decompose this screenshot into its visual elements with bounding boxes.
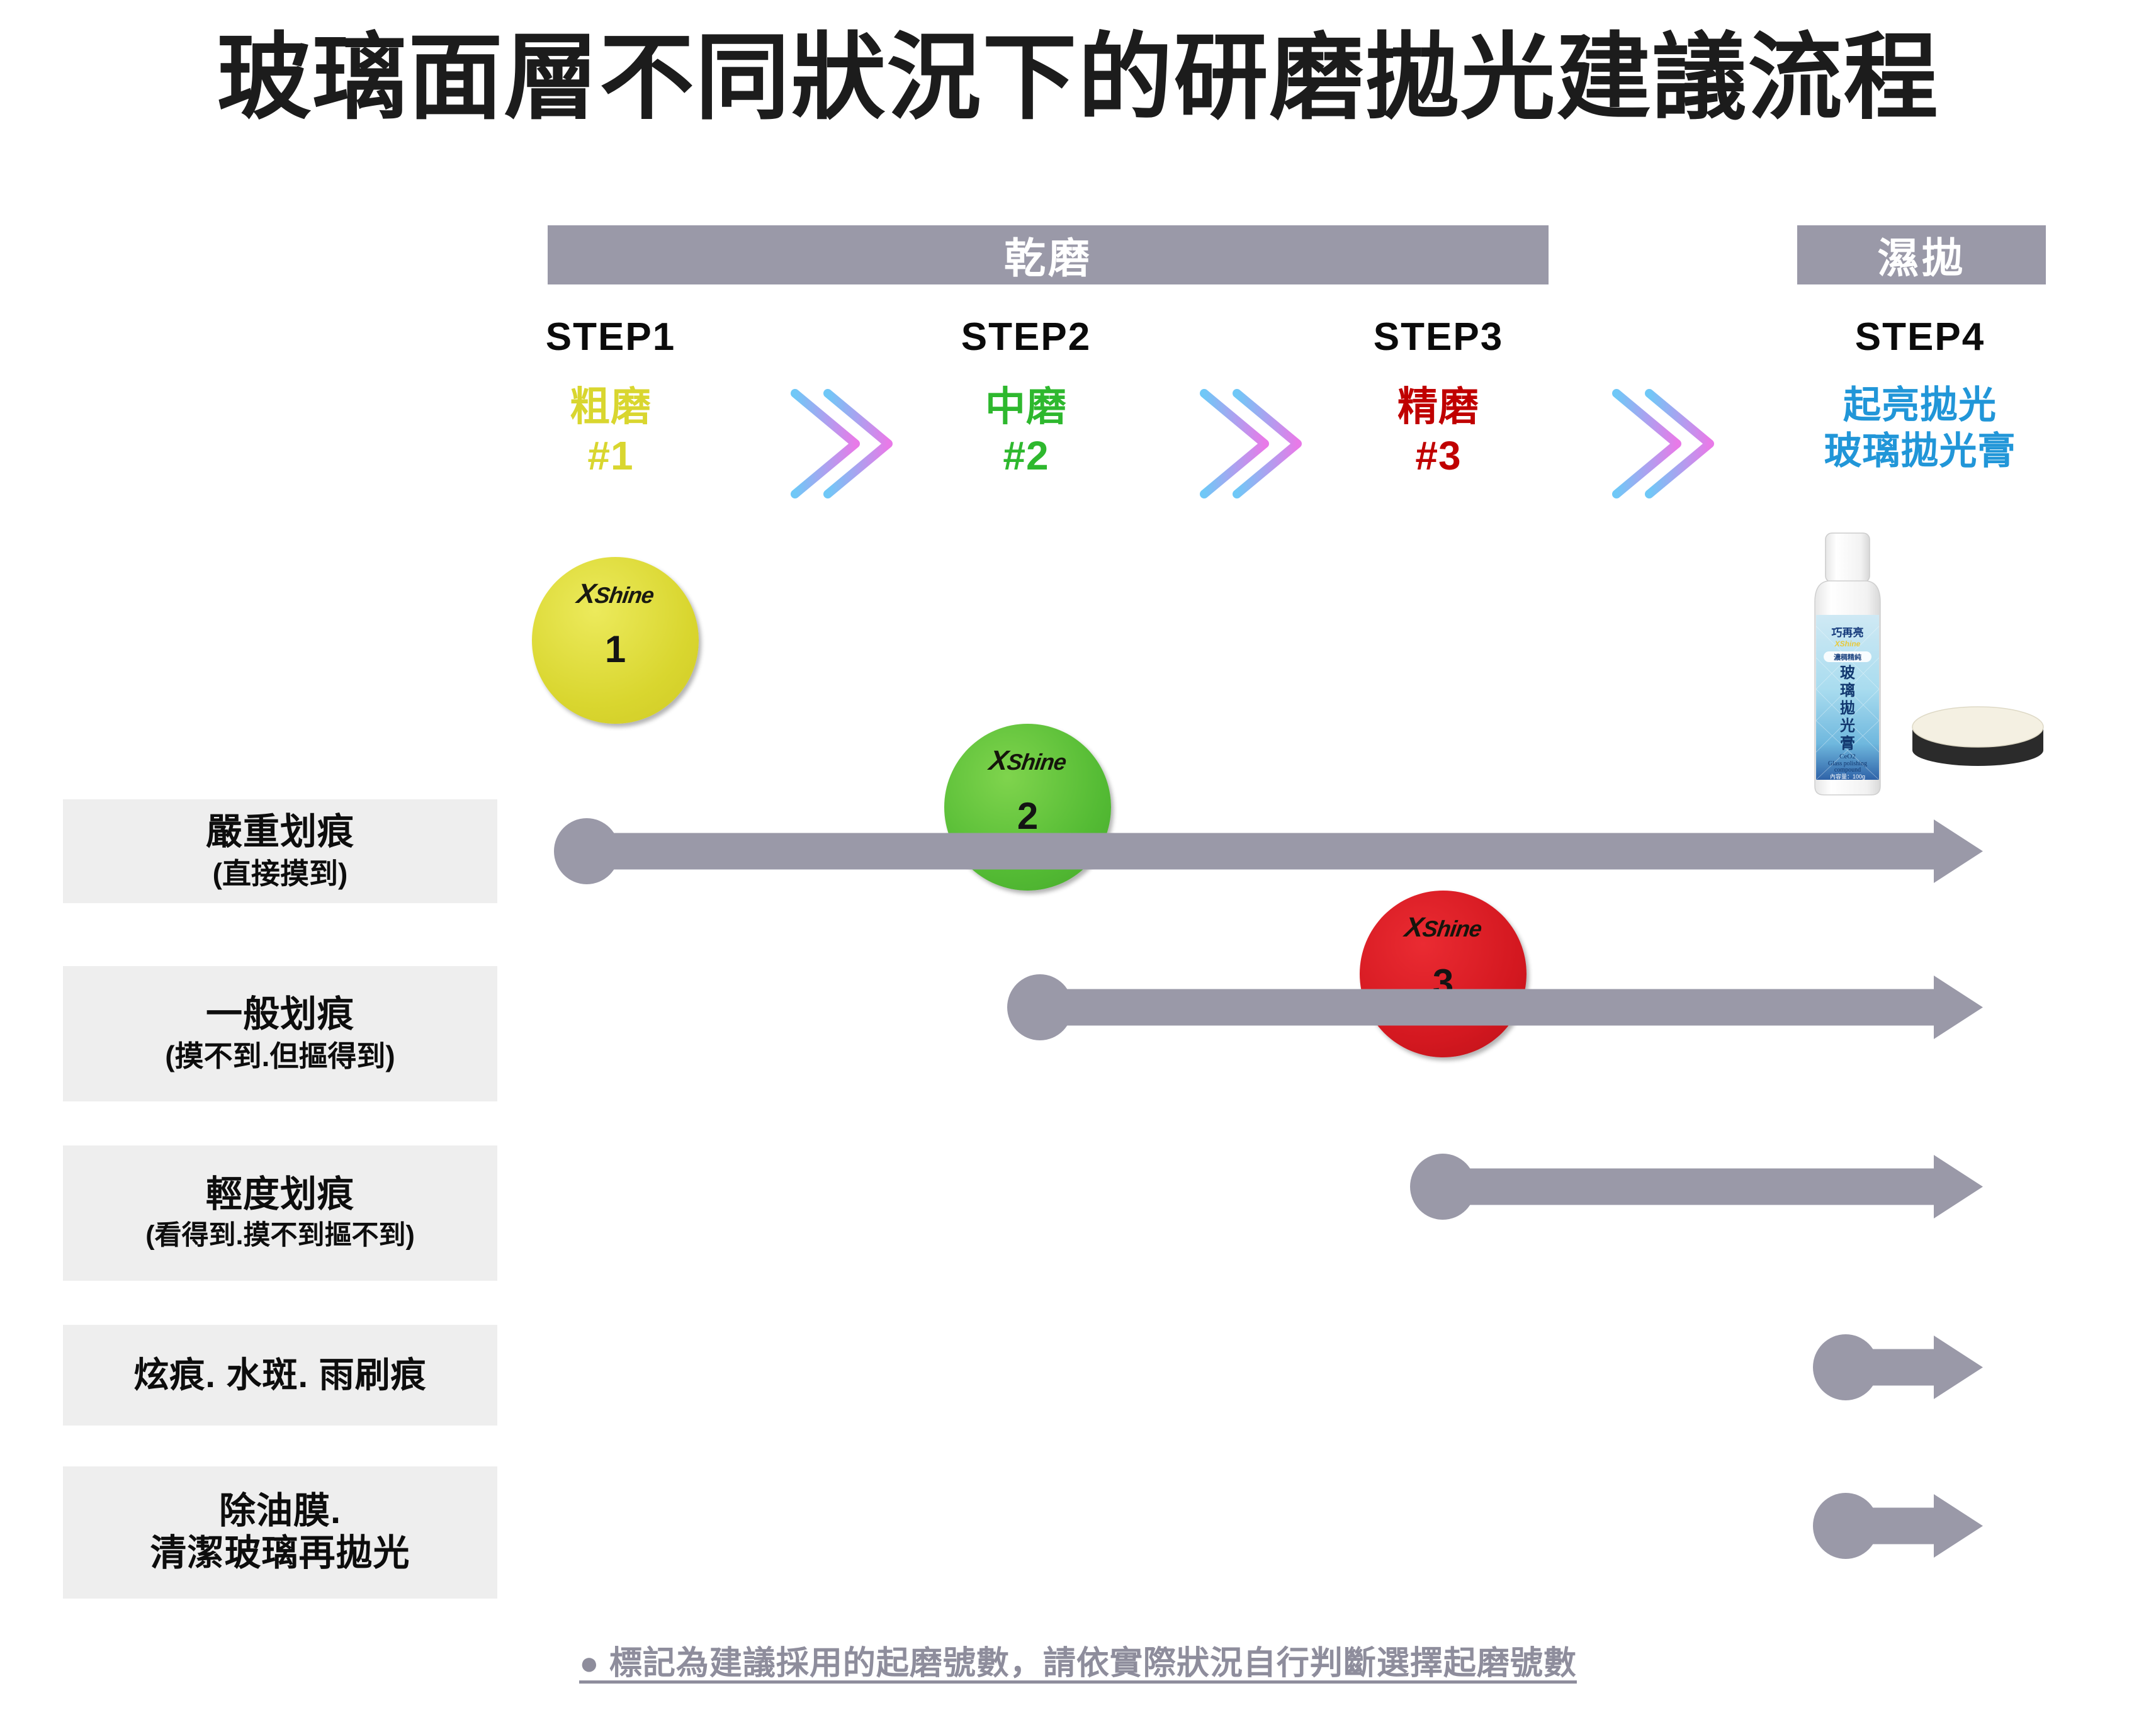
polishing-pad-1: XShine 1 xyxy=(532,557,699,724)
bottle-name-char-4: 光 xyxy=(1839,717,1855,734)
bottle-brand-cn: 巧再亮 xyxy=(1832,626,1864,639)
bottle-tagline: 濃稠精純 xyxy=(1834,653,1861,661)
bottle-name-char-2: 璃 xyxy=(1840,682,1855,699)
pad-brand-rest: Shine xyxy=(1421,916,1483,942)
condition-row-label-light-scratch: 輕度划痕 (看得到.摸不到摳不到) xyxy=(63,1145,497,1281)
condition-row-label-swirl-watermark-wiper: 炫痕. 水斑. 雨刷痕 xyxy=(63,1325,497,1426)
footer-note: ● 標記為建議採用的起磨號數，請依實際狀況自行判斷選擇起磨號數 xyxy=(0,1636,2156,1684)
phase-bar-dry-label: 乾磨 xyxy=(1004,225,1092,285)
row-4-sub: 清潔玻璃再拋光 xyxy=(150,1533,410,1575)
flow-arrow-body xyxy=(1443,1155,1983,1218)
page-title: 玻璃面層不同狀況下的研磨拋光建議流程 xyxy=(0,19,2156,137)
step-2-name-line1: 中磨 xyxy=(894,382,1158,431)
flow-arrow-body xyxy=(1040,976,1983,1039)
step-4-name-line2: 玻璃拋光膏 xyxy=(1744,428,2096,474)
pad-brand-logo: XShine xyxy=(1403,912,1483,943)
condition-row-label-severe-scratch: 嚴重划痕 (直接摸到) xyxy=(63,799,497,903)
step-3-grit: #3 xyxy=(1306,431,1571,480)
felt-polishing-pad xyxy=(1910,699,2046,768)
recommended-flow-arrow-row-2 xyxy=(1410,1154,1983,1220)
recommended-flow-arrow-row-3 xyxy=(1813,1334,1983,1400)
polishing-compound-bottle: 巧再亮 XShine 濃稠精純 玻 璃 拋 光 膏 CeO2 Glass pol… xyxy=(1797,532,1898,796)
step-2-number: STEP2 xyxy=(894,318,1158,357)
condition-row-label-normal-scratch: 一般划痕 (摸不到.但摳得到) xyxy=(63,966,497,1101)
row-1-main: 一般划痕 xyxy=(206,994,354,1036)
condition-row-label-oil-film-removal: 除油膜. 清潔玻璃再拋光 xyxy=(63,1466,497,1599)
row-0-main: 嚴重划痕 xyxy=(206,811,354,853)
bottle-name-char-5: 膏 xyxy=(1840,734,1855,752)
step-1-name: 粗磨 #1 xyxy=(478,382,743,480)
pad-brand-logo: XShine xyxy=(987,745,1068,777)
row-0-sub: (直接摸到) xyxy=(213,857,348,891)
recommended-flow-arrow-row-1 xyxy=(1007,974,1983,1040)
step-2-name: 中磨 #2 xyxy=(894,382,1158,480)
pad-brand-rest: Shine xyxy=(593,582,655,608)
row-1-sub: (摸不到.但摳得到) xyxy=(165,1039,395,1074)
recommended-flow-arrow-row-4 xyxy=(1813,1493,1983,1559)
phase-bar-dry-grinding: 乾磨 xyxy=(548,225,1549,284)
bottle-name-en-2: compound xyxy=(1834,767,1861,773)
row-4-main: 除油膜. xyxy=(219,1490,341,1533)
bottle-name-char-3: 拋 xyxy=(1840,699,1855,717)
bottle-name-char-1: 玻 xyxy=(1840,665,1856,682)
phase-bar-wet-label: 濕拋 xyxy=(1878,225,1966,285)
row-2-main: 輕度划痕 xyxy=(206,1174,354,1216)
step-column-4: STEP4 起亮拋光 玻璃拋光膏 xyxy=(1744,318,2096,474)
bottle-volume: 內容量：100g xyxy=(1830,773,1865,780)
step-1-number: STEP1 xyxy=(478,318,743,357)
step-1-name-line1: 粗磨 xyxy=(478,382,743,431)
step-3-name: 精磨 #3 xyxy=(1306,382,1571,480)
phase-bar-wet-polishing: 濕拋 xyxy=(1797,225,2046,284)
row-2-sub: (看得到.摸不到摳不到) xyxy=(145,1220,415,1252)
bottle-formula: CeO2 xyxy=(1839,753,1856,760)
step-2-grit: #2 xyxy=(894,431,1158,480)
chevron-right-icon xyxy=(777,381,897,507)
pad-brand-logo: XShine xyxy=(575,578,655,610)
step-column-2: STEP2 中磨 #2 xyxy=(894,318,1158,480)
pad-brand-rest: Shine xyxy=(1005,749,1068,775)
step-3-number: STEP3 xyxy=(1306,318,1571,357)
chevron-right-icon xyxy=(1187,381,1306,507)
step-4-name: 起亮拋光 玻璃拋光膏 xyxy=(1744,382,2096,474)
chevron-right-icon xyxy=(1599,381,1719,507)
step-column-1: STEP1 粗磨 #1 xyxy=(478,318,743,480)
step-column-3: STEP3 精磨 #3 xyxy=(1306,318,1571,480)
recommended-flow-arrow-row-0 xyxy=(554,818,1983,884)
flow-arrow-body xyxy=(587,819,1983,883)
pad-1-number: 1 xyxy=(605,627,626,671)
step-1-grit: #1 xyxy=(478,431,743,480)
step-4-number: STEP4 xyxy=(1744,318,2096,357)
bottle-brand-en: XShine xyxy=(1834,639,1861,648)
step-3-name-line1: 精磨 xyxy=(1306,382,1571,431)
row-3-main: 炫痕. 水斑. 雨刷痕 xyxy=(133,1355,426,1395)
step-4-name-line1: 起亮拋光 xyxy=(1744,382,2096,428)
